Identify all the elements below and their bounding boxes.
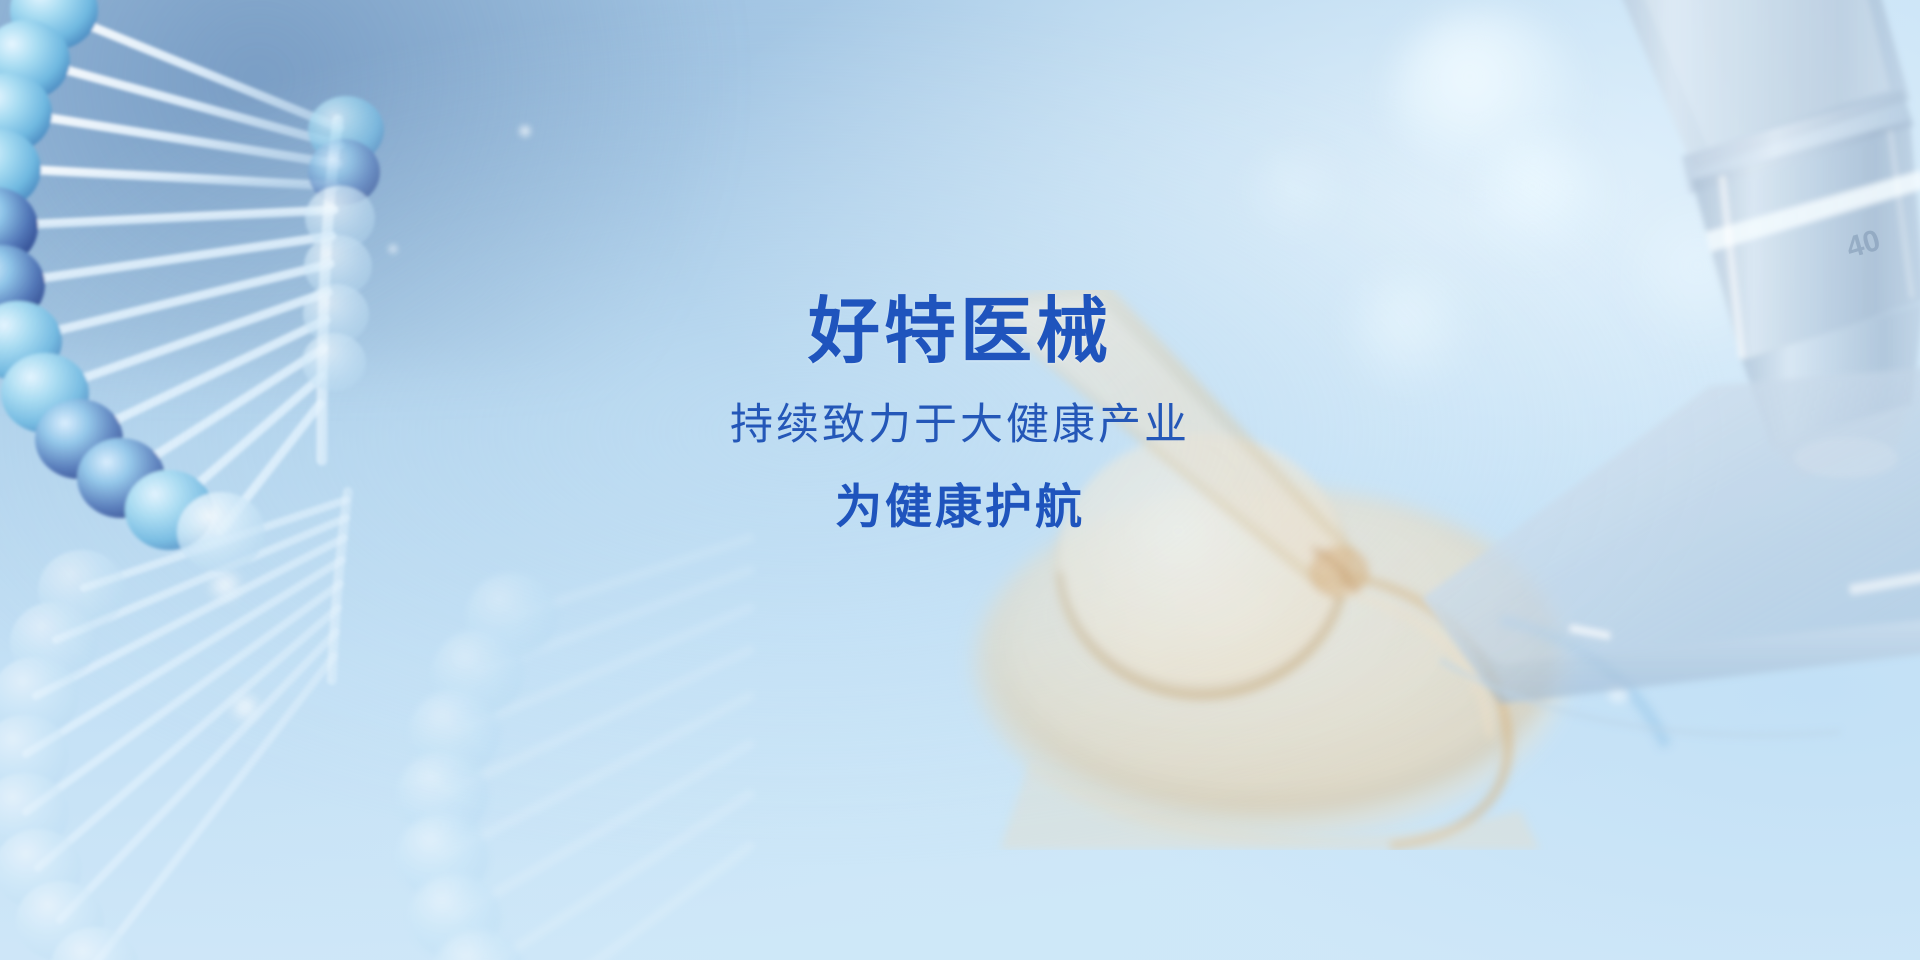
- hero-tagline: 持续致力于大健康产业: [0, 404, 1920, 447]
- hero-slogan: 为健康护航: [0, 483, 1920, 530]
- page-title: 好特医械: [0, 296, 1920, 368]
- hero-text-block: 好特医械 持续致力于大健康产业 为健康护航: [0, 296, 1920, 530]
- hero-banner: 40 好特医械 持续致力于大健康产业 为健康护航: [0, 0, 1920, 960]
